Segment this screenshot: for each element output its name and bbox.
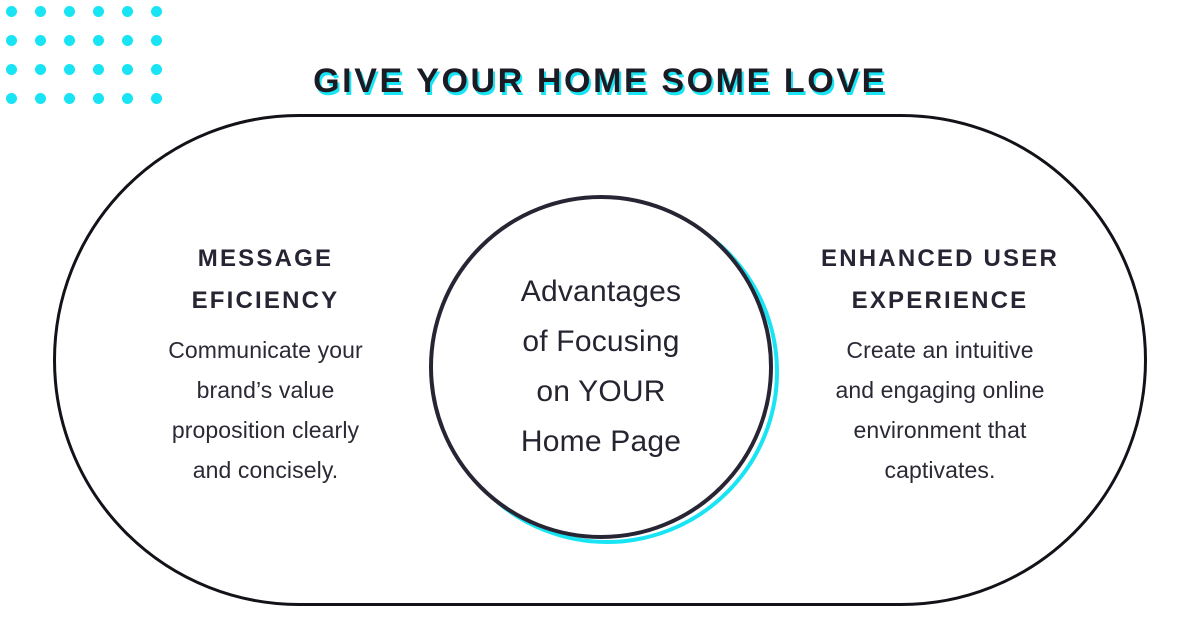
center-circle-line: Home Page — [471, 417, 731, 467]
dot-decoration — [6, 35, 17, 46]
dot-decoration — [122, 6, 133, 17]
column-message-eficiency: MESSAGE EFICIENCY Communicate your brand… — [123, 238, 408, 490]
center-circle-line: Advantages — [471, 267, 731, 317]
dot-decoration — [93, 6, 104, 17]
column-heading-line: EFICIENCY — [123, 280, 408, 322]
column-heading-line: MESSAGE — [123, 238, 408, 280]
center-circle-line: on YOUR — [471, 367, 731, 417]
dot-decoration — [151, 35, 162, 46]
dot-decoration — [122, 35, 133, 46]
infographic-canvas: GIVE YOUR HOME SOME LOVE Advantages of F… — [0, 0, 1200, 627]
column-body-line: environment that — [790, 410, 1090, 450]
column-heading: ENHANCED USER EXPERIENCE — [790, 238, 1090, 322]
center-circle-text: Advantages of Focusing on YOUR Home Page — [471, 267, 731, 467]
dot-decoration — [35, 35, 46, 46]
column-body-line: Create an intuitive — [790, 330, 1090, 370]
center-circle-line: of Focusing — [471, 317, 731, 367]
column-body-line: captivates. — [790, 450, 1090, 490]
page-title: GIVE YOUR HOME SOME LOVE — [0, 62, 1200, 101]
column-heading: MESSAGE EFICIENCY — [123, 238, 408, 322]
column-body-line: Communicate your — [123, 330, 408, 370]
column-body-line: and engaging online — [790, 370, 1090, 410]
column-body-line: proposition clearly — [123, 410, 408, 450]
column-enhanced-user-experience: ENHANCED USER EXPERIENCE Create an intui… — [790, 238, 1090, 490]
dot-decoration — [35, 6, 46, 17]
dot-decoration — [151, 6, 162, 17]
column-heading-line: EXPERIENCE — [790, 280, 1090, 322]
column-body: Create an intuitive and engaging online … — [790, 330, 1090, 490]
dot-decoration — [93, 35, 104, 46]
dot-decoration — [64, 6, 75, 17]
dot-decoration — [6, 6, 17, 17]
column-heading-line: ENHANCED USER — [790, 238, 1090, 280]
column-body-line: and concisely. — [123, 450, 408, 490]
column-body: Communicate your brand’s value propositi… — [123, 330, 408, 490]
column-body-line: brand’s value — [123, 370, 408, 410]
dot-decoration — [64, 35, 75, 46]
center-circle: Advantages of Focusing on YOUR Home Page — [429, 195, 773, 539]
